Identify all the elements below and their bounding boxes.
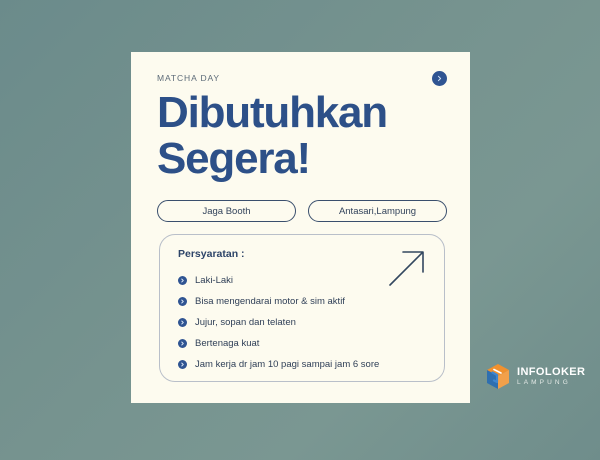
list-item-label: Bisa mengendarai motor & sim aktif [195, 296, 345, 307]
poster-canvas: MATCHA DAY Dibutuhkan Segera! Jaga Booth… [0, 0, 600, 460]
chevron-right-icon[interactable] [432, 71, 447, 86]
card-header: MATCHA DAY [157, 66, 447, 90]
title-line-2: Segera! [157, 136, 457, 182]
list-item: Jam kerja dr jam 10 pagi sampai jam 6 so… [178, 354, 428, 375]
infoloker-cube-icon [485, 363, 511, 391]
infoloker-logo: INFOLOKER LAMPUNG [485, 360, 585, 394]
logo-subtitle: LAMPUNG [517, 380, 585, 387]
requirements-list: Laki-Laki Bisa mengendarai motor & sim a… [178, 270, 428, 375]
eyebrow-label: MATCHA DAY [157, 73, 220, 83]
list-item: Jujur, sopan dan telaten [178, 312, 428, 333]
bullet-chevron-icon [178, 339, 187, 348]
tag-pill-location[interactable]: Antasari,Lampung [308, 200, 447, 222]
list-item: Laki-Laki [178, 270, 428, 291]
tag-pill-role[interactable]: Jaga Booth [157, 200, 296, 222]
list-item-label: Jam kerja dr jam 10 pagi sampai jam 6 so… [195, 359, 379, 370]
bullet-chevron-icon [178, 318, 187, 327]
title-line-1: Dibutuhkan [157, 90, 457, 136]
bullet-chevron-icon [178, 360, 187, 369]
list-item-label: Bertenaga kuat [195, 338, 259, 349]
requirements-heading: Persyaratan : [178, 248, 245, 260]
requirements-box: Persyaratan : Laki-Laki [159, 234, 445, 382]
bullet-chevron-icon [178, 297, 187, 306]
bullet-chevron-icon [178, 276, 187, 285]
list-item: Bertenaga kuat [178, 333, 428, 354]
page-title: Dibutuhkan Segera! [157, 90, 457, 182]
list-item: Bisa mengendarai motor & sim aktif [178, 291, 428, 312]
logo-name: INFOLOKER [517, 367, 585, 378]
list-item-label: Laki-Laki [195, 275, 233, 286]
list-item-label: Jujur, sopan dan telaten [195, 317, 296, 328]
logo-wordmark: INFOLOKER LAMPUNG [517, 367, 585, 387]
tag-row: Jaga Booth Antasari,Lampung [157, 200, 447, 222]
job-poster-card: MATCHA DAY Dibutuhkan Segera! Jaga Booth… [131, 52, 470, 403]
